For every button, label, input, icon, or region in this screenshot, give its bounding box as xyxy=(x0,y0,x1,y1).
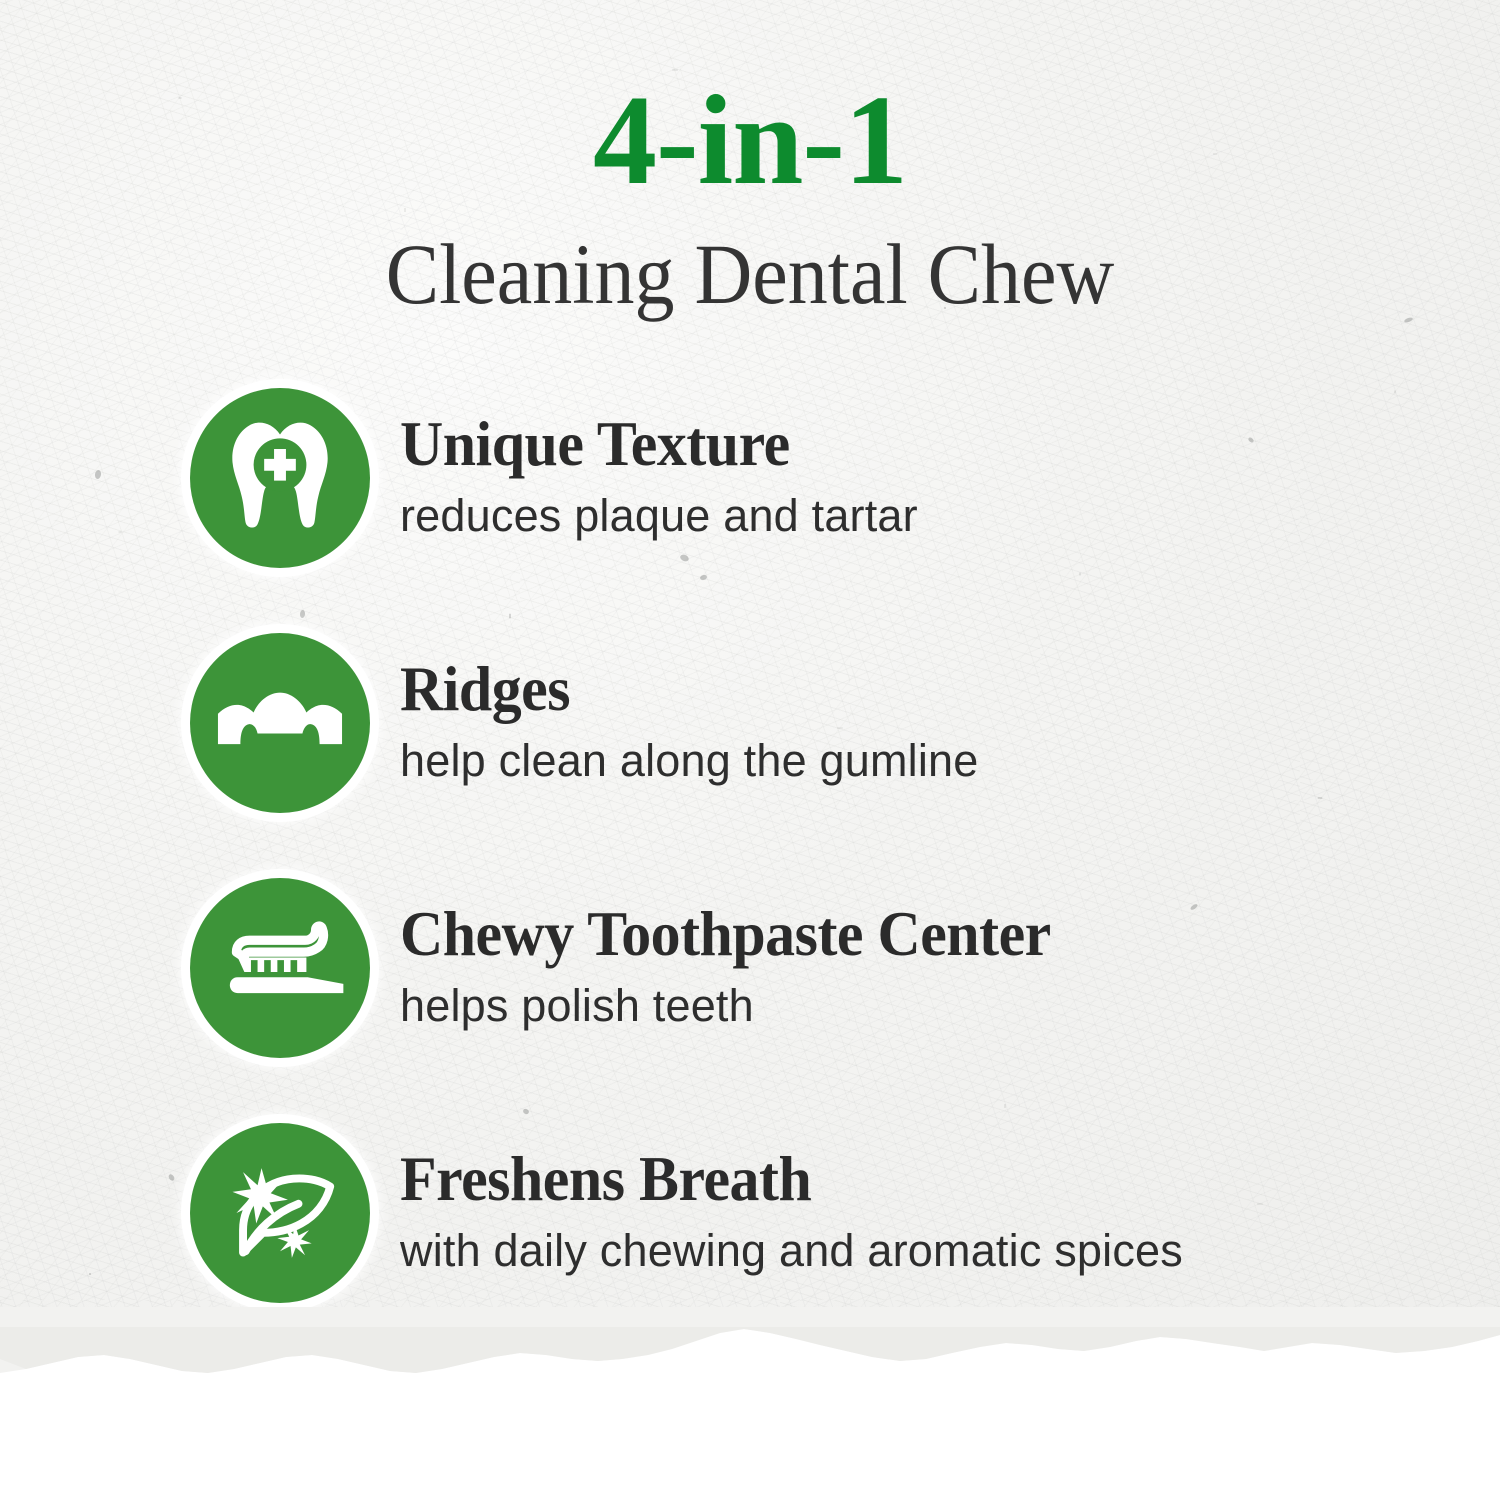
tooth-shield-icon xyxy=(214,412,346,544)
feature-row: Unique Texture reduces plaque and tartar xyxy=(0,355,1500,600)
feature-description: helps polish teeth xyxy=(400,979,1085,1032)
feature-title: Ridges xyxy=(400,658,950,721)
feature-row: Ridges help clean along the gumline xyxy=(0,600,1500,845)
feature-row: Freshens Breath with daily chewing and a… xyxy=(0,1090,1500,1335)
title-main: 4-in-1 xyxy=(0,76,1500,204)
feature-title: Freshens Breath xyxy=(400,1148,1144,1211)
feature-title: Unique Texture xyxy=(400,413,892,476)
feature-text: Unique Texture reduces plaque and tartar xyxy=(400,413,918,542)
feature-description: with daily chewing and aromatic spices xyxy=(400,1224,1183,1277)
title-subtitle: Cleaning Dental Chew xyxy=(53,222,1448,327)
torn-paper-edge xyxy=(0,1307,1500,1487)
feature-row: Chewy Toothpaste Center helps polish tee… xyxy=(0,845,1500,1090)
feature-text: Chewy Toothpaste Center helps polish tee… xyxy=(400,903,1085,1032)
ridges-icon xyxy=(214,657,346,789)
feature-list: Unique Texture reduces plaque and tartar… xyxy=(0,355,1500,1335)
product-infographic-poster: 4-in-1 Cleaning Dental Chew Unique Textu… xyxy=(0,0,1500,1487)
poster-headline: 4-in-1 Cleaning Dental Chew xyxy=(0,76,1500,327)
mint-leaf-sparkle-icon xyxy=(214,1147,346,1279)
feature-description: reduces plaque and tartar xyxy=(400,489,918,542)
feature-text: Freshens Breath with daily chewing and a… xyxy=(400,1148,1183,1277)
tooth-shield-icon-badge xyxy=(190,388,370,568)
toothbrush-paste-icon xyxy=(214,902,346,1034)
ridges-icon-badge xyxy=(190,633,370,813)
feature-description: help clean along the gumline xyxy=(400,734,979,787)
feature-text: Ridges help clean along the gumline xyxy=(400,658,979,787)
mint-leaf-sparkle-icon-badge xyxy=(190,1123,370,1303)
feature-title: Chewy Toothpaste Center xyxy=(400,903,1051,966)
toothbrush-paste-icon-badge xyxy=(190,878,370,1058)
